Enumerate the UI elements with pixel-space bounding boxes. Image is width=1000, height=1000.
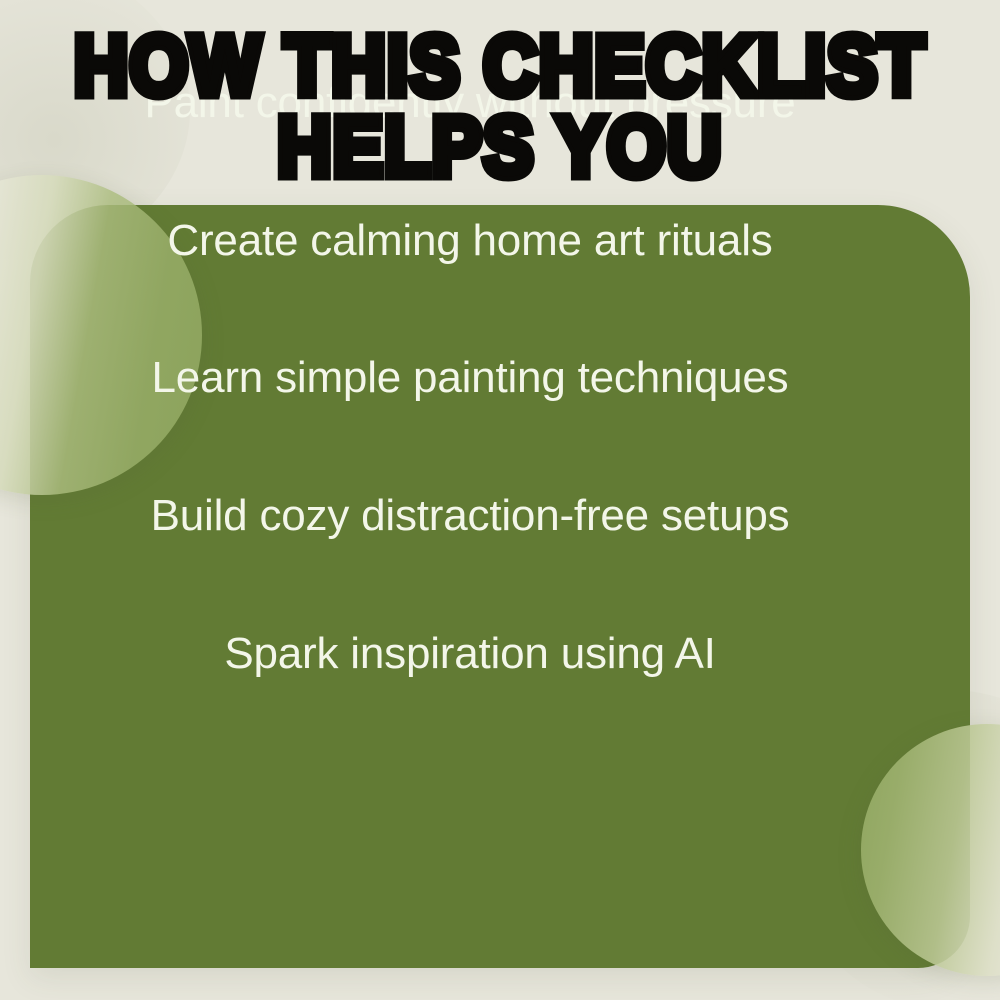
benefit-item: Spark inspiration using AI (40, 630, 900, 678)
page-title-line-2: HELPS YOU (0, 107, 1000, 186)
benefit-item: Learn simple painting techniques (40, 354, 900, 402)
page-title: HOW THIS CHECKLIST HELPS YOU (0, 26, 1000, 177)
benefit-item: Create calming home art rituals (40, 217, 900, 265)
page-title-line-1: HOW THIS CHECKLIST (0, 26, 1000, 105)
poster-canvas: HOW THIS CHECKLIST HELPS YOU Paint confi… (0, 0, 1000, 1000)
benefit-item: Build cozy distraction-free setups (40, 492, 900, 540)
